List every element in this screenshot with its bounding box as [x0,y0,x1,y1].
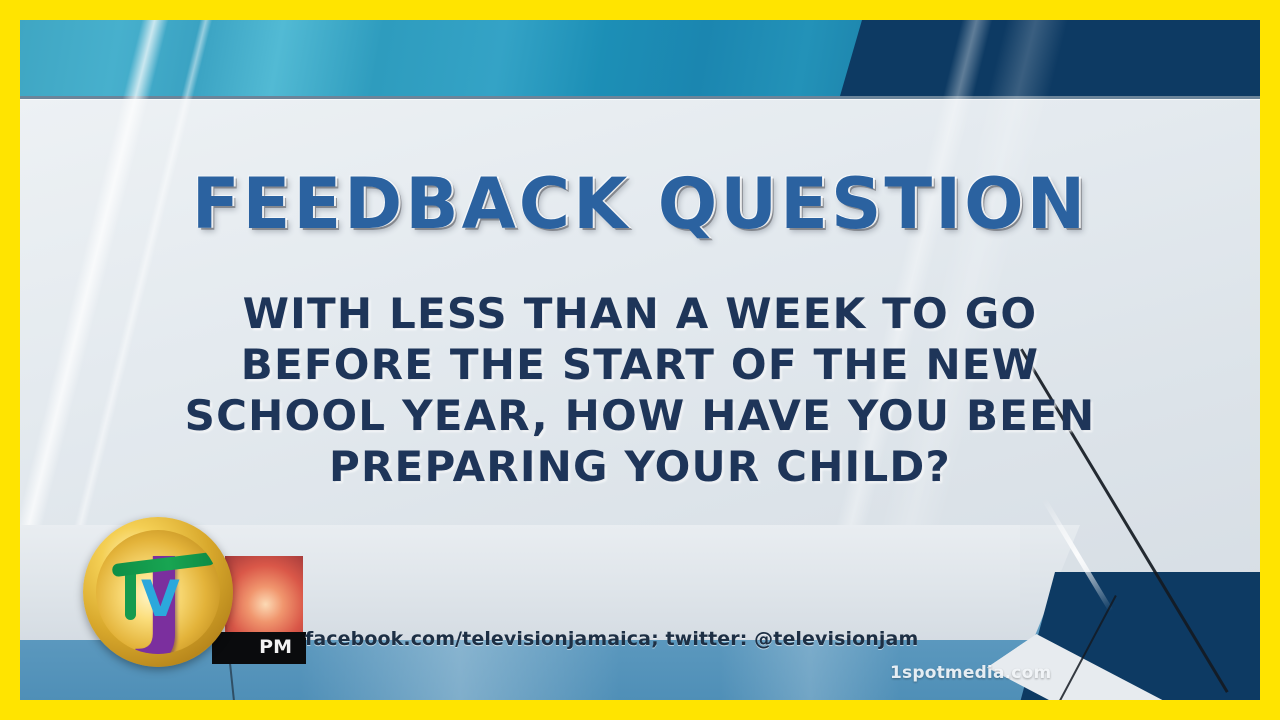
panel-top-edge [20,99,1260,100]
logo-letter-v: V [141,574,180,624]
video-thumbnail [225,556,303,634]
logo-inner-disc: J V [96,530,220,654]
graphic-stage: FEEDBACK QUESTION WITH LESS THAN A WEEK … [20,20,1260,700]
time-chip-label: PM [259,636,292,658]
tvj-logo: J V [83,517,233,667]
feedback-question-text: WITH LESS THAN A WEEK TO GO BEFORE THE S… [20,288,1260,492]
question-line-3: SCHOOL YEAR, HOW HAVE YOU BEEN [20,390,1260,441]
top-band-navy [840,20,1260,96]
broadcast-frame: FEEDBACK QUESTION WITH LESS THAN A WEEK … [0,0,1280,720]
question-line-2: BEFORE THE START OF THE NEW [20,339,1260,390]
top-color-band [20,20,1260,96]
social-handles-text: facebook.com/televisionjamaica; twitter:… [305,628,918,650]
page-title: FEEDBACK QUESTION [20,163,1260,245]
question-line-4: PREPARING YOUR CHILD? [20,441,1260,492]
question-line-1: WITH LESS THAN A WEEK TO GO [20,288,1260,339]
watermark-text: 1spotmedia.com [890,663,1051,683]
